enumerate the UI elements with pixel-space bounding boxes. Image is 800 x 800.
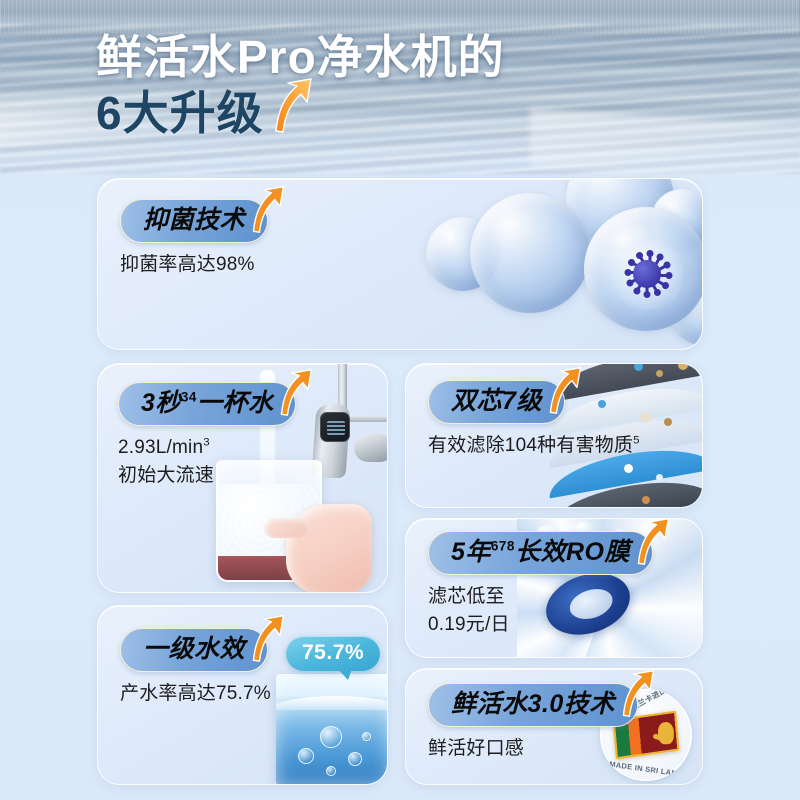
card-quick-water-title-main: 3秒 (141, 389, 181, 417)
up-arrow-icon (633, 518, 673, 565)
card-fresh-water-tech[interactable]: 斯里兰卡进口 MADE IN SRI LANKA 鲜活水3.0技术 鲜活好口感 (405, 668, 703, 785)
card-ro-membrane-title: 5年678长效RO膜 (428, 531, 653, 575)
card-quick-water-subtitle-line-2: 初始大流速 (118, 463, 387, 489)
card-water-efficiency-title: 一级水效 (120, 628, 268, 672)
card-dual-core-filter-subtitle-superscript: 5 (633, 434, 640, 446)
promo-page: 鲜活水Pro净水机的 6大升级 (0, 0, 800, 800)
up-arrow-icon (276, 368, 316, 416)
card-antibacterial-title: 抑菌技术 (120, 199, 268, 243)
card-ro-membrane-subtitle-line-1: 滤芯低至 (428, 584, 702, 610)
card-quick-water-title-row: 3秒34一杯水 (118, 382, 387, 426)
card-ro-membrane-title-tail: 长效RO膜 (515, 538, 630, 566)
up-arrow-icon (270, 77, 316, 133)
card-dual-core-filter-subtitle: 有效滤除104种有害物质5 (428, 433, 702, 459)
card-ro-membrane-body: 5年678长效RO膜 滤芯低至 0.19元/日 (406, 519, 702, 638)
seal-text-bottom: MADE IN SRI LANKA (609, 759, 689, 779)
card-water-efficiency[interactable]: 75.7% 一级水效 产水率高达75.7% (97, 605, 388, 785)
up-arrow-icon (248, 614, 288, 662)
card-antibacterial-body: 抑菌技术 抑菌率高达98% (98, 179, 702, 278)
hand-holding-glass (286, 504, 372, 593)
card-ro-membrane-subtitle-line-2: 0.19元/日 (428, 612, 702, 638)
card-water-efficiency-title-row: 一级水效 (120, 628, 387, 672)
card-ro-membrane[interactable]: 5年678长效RO膜 滤芯低至 0.19元/日 (405, 518, 703, 658)
card-water-efficiency-body: 一级水效 产水率高达75.7% (98, 606, 387, 707)
card-dual-core-filter-title-row: 双芯7级 (428, 380, 702, 424)
card-fresh-water-tech-title-row: 鲜活水3.0技术 (428, 683, 702, 727)
card-ro-membrane-title-main: 5年 (451, 538, 491, 566)
card-dual-core-filter-body: 双芯7级 有效滤除104种有害物质5 (406, 364, 702, 459)
up-arrow-icon (248, 185, 288, 233)
card-quick-water-title: 3秒34一杯水 (118, 382, 296, 426)
card-fresh-water-tech-title: 鲜活水3.0技术 (428, 683, 638, 727)
card-quick-water-rate: 2.93L/min (118, 437, 203, 458)
card-dual-core-filter-subtitle-text: 有效滤除104种有害物质 (428, 435, 633, 456)
hero-title-line-2-row: 6大升级 (96, 88, 505, 140)
card-quick-water[interactable]: 3秒34一杯水 2.93L/min3 初始大流速 (97, 363, 388, 593)
card-antibacterial-title-row: 抑菌技术 (120, 199, 702, 243)
card-quick-water-subtitle-line-1: 2.93L/min3 (118, 435, 387, 461)
card-quick-water-title-superscript: 34 (181, 390, 197, 405)
up-arrow-icon (618, 669, 658, 717)
card-ro-membrane-title-superscript: 678 (491, 539, 515, 554)
card-quick-water-body: 3秒34一杯水 2.93L/min3 初始大流速 (98, 364, 387, 489)
card-dual-core-filter[interactable]: 双芯7级 有效滤除104种有害物质5 (405, 363, 703, 508)
card-water-efficiency-subtitle: 产水率高达75.7% (120, 681, 387, 707)
card-fresh-water-tech-body: 鲜活水3.0技术 鲜活好口感 (406, 669, 702, 762)
card-antibacterial[interactable]: 抑菌技术 抑菌率高达98% (97, 178, 703, 350)
card-quick-water-rate-superscript: 3 (203, 436, 210, 448)
card-ro-membrane-title-row: 5年678长效RO膜 (428, 531, 702, 575)
hero-title-line-1: 鲜活水Pro净水机的 (96, 32, 505, 84)
hero-title-line-2: 6大升级 (96, 88, 264, 140)
hero-title-block: 鲜活水Pro净水机的 6大升级 (96, 32, 505, 139)
card-antibacterial-subtitle: 抑菌率高达98% (120, 252, 702, 278)
card-fresh-water-tech-subtitle: 鲜活好口感 (428, 736, 702, 762)
hero-banner: 鲜活水Pro净水机的 6大升级 (0, 0, 800, 178)
up-arrow-icon (545, 366, 585, 414)
card-quick-water-title-tail: 一杯水 (197, 389, 274, 417)
